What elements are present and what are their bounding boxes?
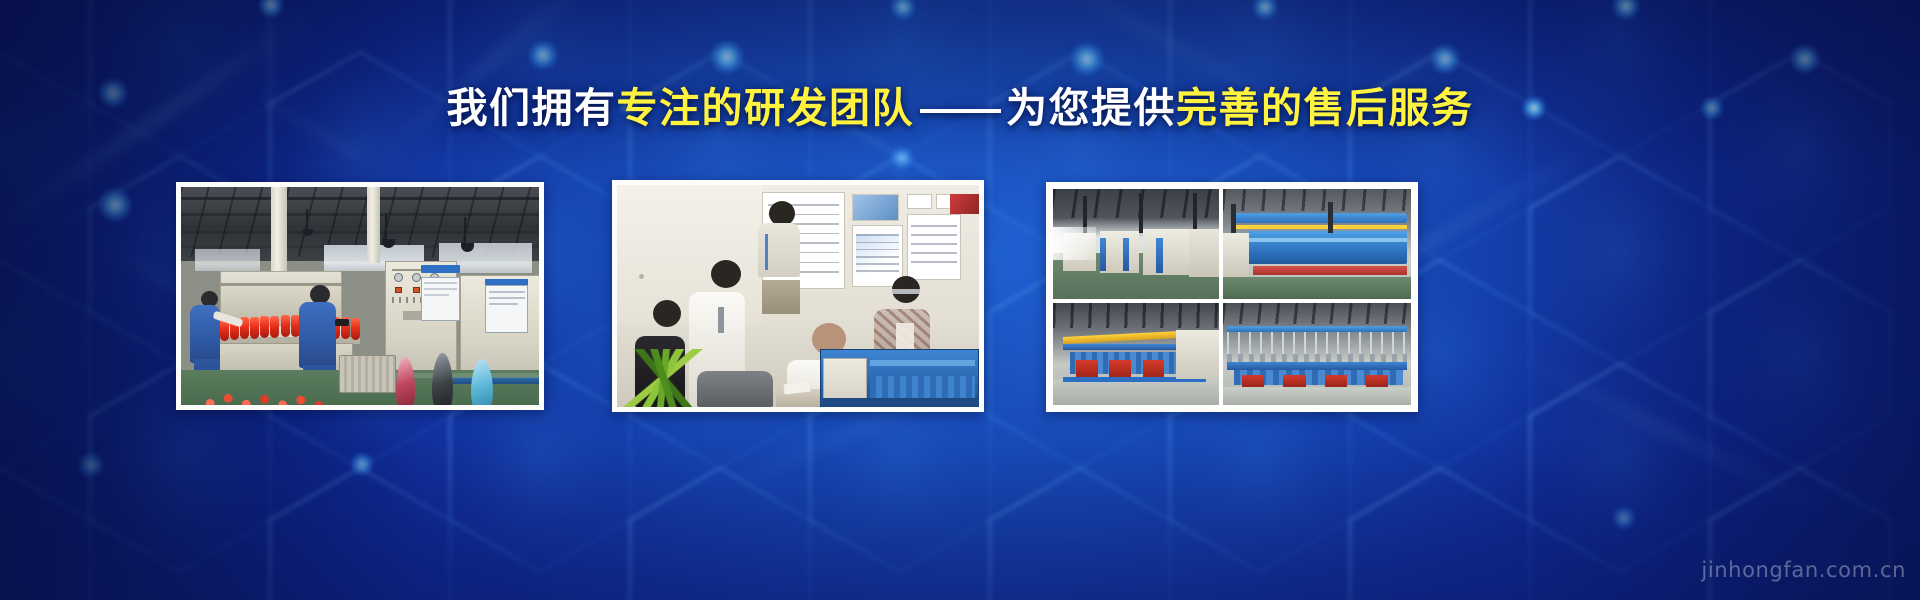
title-segment-4: 完善的售后服务	[1176, 85, 1474, 131]
promo-banner: 我们拥有专注的研发团队——为您提供完善的售后服务	[0, 0, 1920, 600]
photo-panel-production-line[interactable]	[176, 182, 544, 410]
collage-cell-3	[1051, 301, 1221, 407]
photo-team-meeting	[617, 185, 979, 407]
collage-cell-2	[1221, 187, 1413, 301]
title-segment-2: 专注的研发团队	[617, 85, 915, 131]
photo-panel-workshop-collage[interactable]	[1046, 182, 1418, 412]
title-segment-1: 我们拥有	[447, 85, 617, 131]
title-segment-3: 为您提供	[1006, 85, 1176, 131]
page-title: 我们拥有专注的研发团队——为您提供完善的售后服务	[0, 84, 1920, 132]
collage-cell-4	[1221, 301, 1413, 407]
title-divider-dash: ——	[914, 85, 1006, 131]
photo-panel-team-meeting[interactable]	[612, 180, 984, 412]
collage-cell-1	[1051, 187, 1221, 301]
site-watermark: jinhongfan.com.cn	[1701, 558, 1906, 582]
photo-workshop-collage	[1051, 187, 1413, 407]
photo-production-line	[181, 187, 539, 405]
